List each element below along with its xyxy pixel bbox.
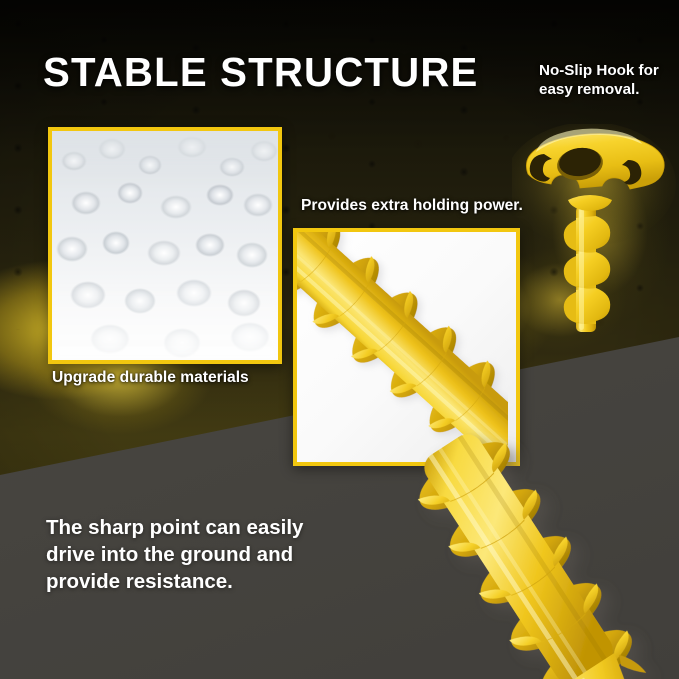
callout-sharp-point-line2: drive into the ground and [46, 541, 336, 568]
callout-durable-materials: Upgrade durable materials [52, 369, 249, 388]
callout-no-slip-hook-line2: easy removal. [539, 81, 679, 100]
pellets-inset-frame [48, 127, 282, 364]
callout-holding-power: Provides extra holding power. [301, 197, 523, 216]
callout-sharp-point-line3: provide resistance. [46, 568, 336, 595]
pellets-photo-blur-bottom [52, 282, 278, 360]
thread-closeup-graphic [297, 232, 508, 454]
callout-sharp-point: The sharp point can easily drive into th… [46, 514, 336, 595]
callout-no-slip-hook: No-Slip Hook for easy removal. [539, 62, 679, 100]
product-infographic: STABLE STRUCTURE No-Slip Hook for easy r… [0, 0, 679, 679]
callout-sharp-point-line1: The sharp point can easily [46, 514, 336, 541]
pellets-photo-blur-top [52, 131, 278, 187]
page-title: STABLE STRUCTURE [43, 52, 478, 93]
callout-no-slip-hook-line1: No-Slip Hook for [539, 62, 679, 81]
thread-inset-frame [293, 228, 520, 466]
